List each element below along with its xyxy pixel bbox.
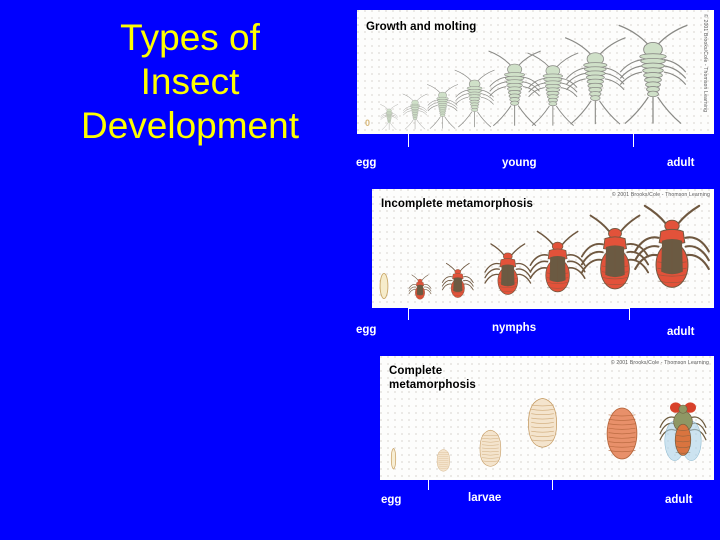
copyright-notice-growth: © 2001 Brooks/Cole - Thomson Learning xyxy=(702,14,708,112)
fly-adult xyxy=(657,392,709,472)
stage-bracket-young xyxy=(408,133,634,147)
stage-label-nymphs: nymphs xyxy=(492,322,536,335)
true-bug-instar-2 xyxy=(441,258,475,305)
slide-canvas: Types of Insect Development Growth and m… xyxy=(0,0,720,540)
panel-growth-and-molting: Growth and molting © 2001 Brooks/Cole - … xyxy=(357,10,714,134)
panel-complete-metamorphosis: Complete metamorphosis © 2001 Brooks/Col… xyxy=(380,356,714,480)
title-line-2: Insect xyxy=(40,60,340,104)
title-line-3: Development xyxy=(40,104,340,148)
title-line-1: Types of xyxy=(40,16,340,60)
page-title: Types of Insect Development xyxy=(40,16,340,148)
true-bug-instar-3 xyxy=(483,236,533,305)
true-bug-instar-1 xyxy=(408,271,432,305)
silverfish-instar-8 xyxy=(614,20,692,132)
fly-larva-1 xyxy=(429,449,458,472)
panel-title-growth-and-molting: Growth and molting xyxy=(366,20,476,34)
stage-label-young: young xyxy=(502,157,537,170)
stage-bracket-nymphs xyxy=(408,308,630,320)
stage-bracket-larvae xyxy=(428,478,553,490)
fly-larva-3 xyxy=(519,375,566,472)
stage-label-egg-2: egg xyxy=(356,324,376,337)
fly-egg xyxy=(389,448,398,470)
stage-label-adult-3: adult xyxy=(665,494,692,507)
true-bug-instar-6 xyxy=(632,193,712,305)
stage-label-adult-2: adult xyxy=(667,326,694,339)
panel-title-incomplete-metamorphosis: Incomplete metamorphosis xyxy=(381,197,533,211)
stage-label-egg-3: egg xyxy=(381,494,401,507)
stage-label-adult-1: adult xyxy=(667,157,694,170)
panel-title-complete-metamorphosis: Complete metamorphosis xyxy=(389,364,476,392)
copyright-notice-complete: © 2001 Brooks/Cole - Thomson Learning xyxy=(611,360,709,366)
egg-marker-growth: 0 xyxy=(365,118,370,128)
silverfish-instar-1 xyxy=(379,103,399,132)
bug-egg xyxy=(378,272,390,300)
stage-label-larvae: larvae xyxy=(468,492,501,505)
fly-larva-2 xyxy=(473,425,508,472)
stage-label-egg-1: egg xyxy=(356,157,376,170)
panel-incomplete-metamorphosis: Incomplete metamorphosis © 2001 Brooks/C… xyxy=(372,189,714,308)
fly-pupa xyxy=(598,395,646,473)
